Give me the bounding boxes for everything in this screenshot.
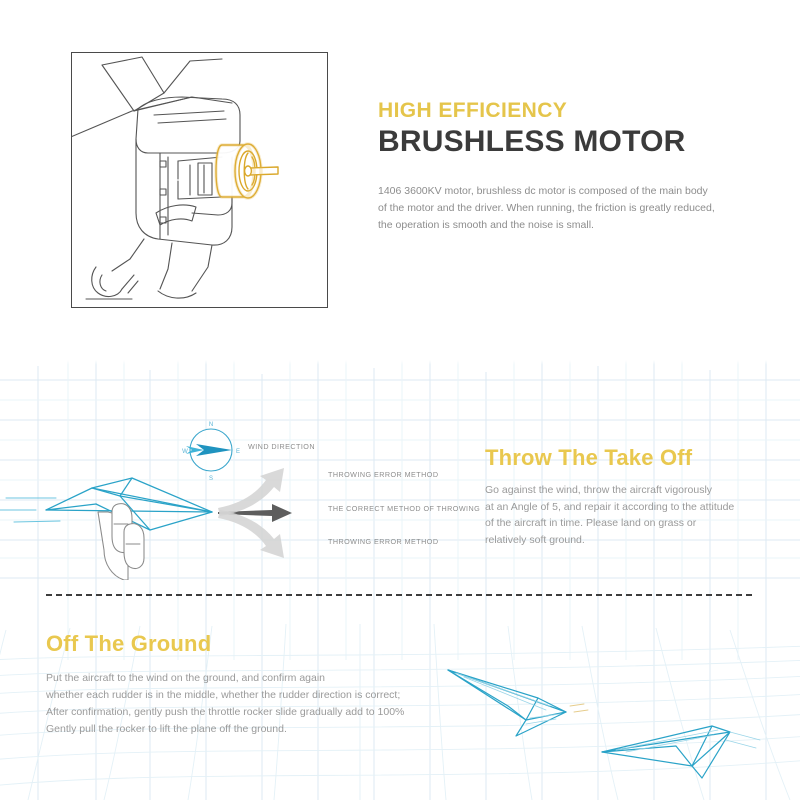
motor-text-block: HIGH EFFICIENCY BRUSHLESS MOTOR 1406 360…	[378, 100, 768, 234]
section-brushless-motor: HIGH EFFICIENCY BRUSHLESS MOTOR 1406 360…	[0, 0, 800, 360]
svg-text:S: S	[209, 476, 213, 482]
wind-direction-label: WIND DIRECTION	[248, 442, 315, 451]
motor-illustration-frame	[71, 52, 328, 308]
aircraft-nose-motor-illustration	[72, 53, 327, 307]
ground-description: Put the aircraft to the wind on the grou…	[46, 670, 486, 738]
throw-description-line: Go against the wind, throw the aircraft …	[485, 482, 775, 499]
hand-throwing-plane	[0, 478, 212, 580]
paper-plane-upper	[448, 670, 566, 736]
throw-description: Go against the wind, throw the aircraft …	[485, 482, 775, 548]
ground-description-line: whether each rudder is in the middle, wh…	[46, 687, 486, 704]
flying-paper-planes	[430, 640, 790, 790]
throw-error-label-top: THROWING ERROR METHOD	[328, 470, 438, 479]
ground-description-line: After confirmation, gently push the thro…	[46, 704, 486, 721]
compass-rose: N W E S	[182, 422, 240, 482]
throw-correct-label: THE CORRECT METHOD OF THROWING	[328, 504, 480, 513]
throw-text-block: Throw The Take Off Go against the wind, …	[485, 446, 775, 549]
ground-text-block: Off The Ground Put the aircraft to the w…	[46, 632, 486, 738]
motor-description-line: of the motor and the driver. When runnin…	[378, 200, 768, 217]
motor-headline: BRUSHLESS MOTOR	[378, 124, 768, 159]
throw-description-line: relatively soft ground.	[485, 532, 775, 549]
ground-description-line: Put the aircraft to the wind on the grou…	[46, 670, 486, 687]
throw-arrows	[218, 468, 292, 558]
svg-text:W: W	[182, 449, 188, 455]
ground-description-line: Gently pull the rocker to lift the plane…	[46, 721, 486, 738]
throw-description-line: of the aircraft in time. Please land on …	[485, 515, 775, 532]
brushless-motor-highlight	[216, 144, 278, 198]
motor-kicker: HIGH EFFICIENCY	[378, 100, 768, 122]
dashed-divider	[46, 594, 752, 596]
throwing-method-diagram: N W E S	[0, 400, 460, 580]
motor-description: 1406 3600KV motor, brushless dc motor is…	[378, 183, 768, 234]
throw-error-label-bottom: THROWING ERROR METHOD	[328, 537, 438, 546]
infographic-page: HIGH EFFICIENCY BRUSHLESS MOTOR 1406 360…	[0, 0, 800, 800]
motor-description-line: the operation is smooth and the noise is…	[378, 217, 768, 234]
throw-headline: Throw The Take Off	[485, 446, 775, 470]
svg-text:N: N	[209, 422, 213, 428]
motor-description-line: 1406 3600KV motor, brushless dc motor is…	[378, 183, 768, 200]
svg-text:E: E	[236, 449, 240, 455]
throw-description-line: at an Angle of 5, and repair it accordin…	[485, 499, 775, 516]
ground-headline: Off The Ground	[46, 632, 486, 656]
paper-plane-lower	[602, 726, 730, 778]
